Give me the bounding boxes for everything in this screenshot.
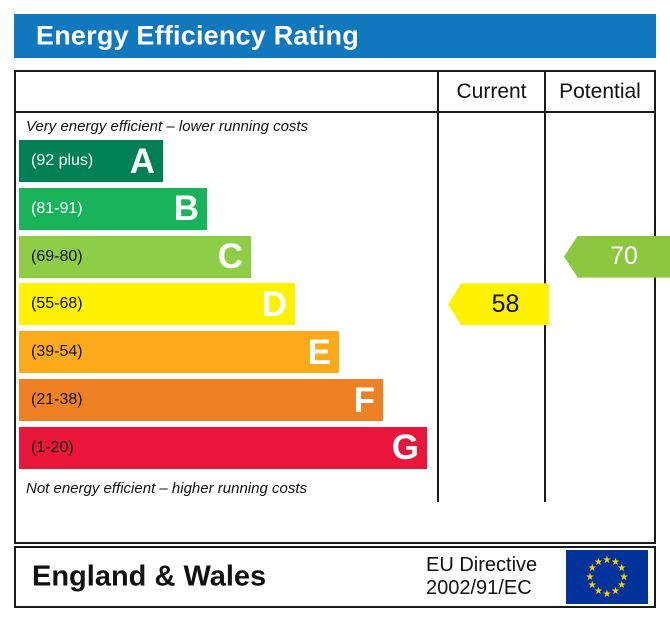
eu-star-icon: ★ [611,587,620,596]
band-letter-g: G [392,430,419,465]
footer-directive: EU Directive 2002/91/EC [426,554,537,600]
potential-rating-value: 70 [610,242,638,271]
footer-bar: England & Wales EU Directive 2002/91/EC … [14,546,656,608]
band-range-f: (21-38) [31,391,83,409]
potential-rating-arrow: 70 [564,236,670,278]
directive-line-2: 2002/91/EC [426,577,537,600]
eu-star-icon: ★ [594,558,603,567]
column-header-current: Current [437,72,544,111]
footer-region-label: England & Wales [32,561,266,594]
band-range-a: (92 plus) [31,152,93,170]
band-letter-c: C [218,239,243,274]
band-bar-b: (81-91)B [19,188,207,230]
column-divider-current [437,113,439,502]
caption-inefficient: Not energy efficient – higher running co… [16,475,437,502]
band-letter-b: B [174,191,199,226]
band-range-b: (81-91) [31,200,83,218]
band-range-g: (1-20) [31,439,74,457]
current-rating-arrow: 58 [448,283,549,325]
band-range-c: (69-80) [31,248,83,266]
band-letter-f: F [354,383,375,418]
directive-line-1: EU Directive [426,554,537,577]
band-bar-c: (69-80)C [19,236,251,278]
rating-table: Current Potential Very energy efficient … [14,70,656,544]
title-banner: Energy Efficiency Rating [14,14,656,58]
table-header-row: Current Potential [16,72,654,113]
band-bar-f: (21-38)F [19,379,383,421]
band-range-d: (55-68) [31,295,83,313]
band-bar-d: (55-68)D [19,283,295,325]
band-letter-e: E [308,335,331,370]
band-bar-e: (39-54)E [19,331,339,373]
band-bar-a: (92 plus)A [19,140,163,182]
page-title: Energy Efficiency Rating [36,21,359,52]
band-list: (92 plus)A(81-91)B(69-80)C(55-68)D(39-54… [16,140,437,475]
eu-star-icon: ★ [603,590,612,599]
epc-certificate: Energy Efficiency Rating Current Potenti… [0,0,670,627]
eu-flag-icon: ★★★★★★★★★★★★ [566,550,648,604]
band-letter-d: D [262,287,287,322]
caption-efficient: Very energy efficient – lower running co… [16,113,437,140]
band-range-e: (39-54) [31,343,83,361]
band-bar-g: (1-20)G [19,427,427,469]
band-letter-a: A [130,144,155,179]
column-header-potential: Potential [544,72,654,111]
current-rating-value: 58 [492,290,520,319]
